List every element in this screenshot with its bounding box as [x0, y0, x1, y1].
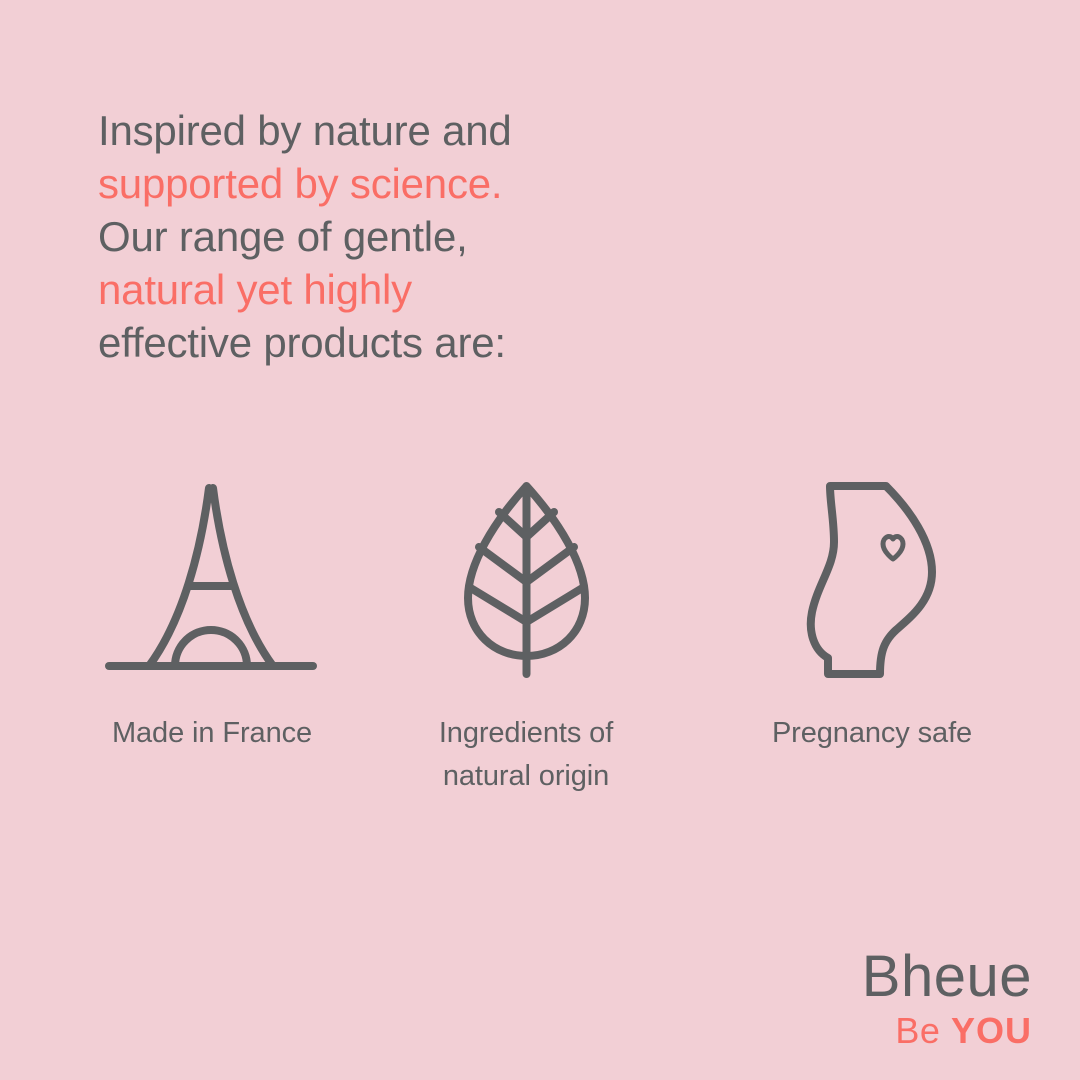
- headline-line-2: supported by science.: [98, 157, 738, 210]
- headline-line-1: Inspired by nature and: [98, 104, 738, 157]
- feature-label: Ingredients of natural origin: [439, 712, 613, 798]
- tagline-be: Be: [895, 1010, 940, 1051]
- eiffel-tower-icon: [105, 470, 320, 680]
- headline-line-3: Our range of gentle,: [98, 210, 738, 263]
- feature-list: Made in France: [60, 470, 1020, 798]
- pregnant-belly-icon: [800, 470, 945, 680]
- headline-line-4: natural yet highly: [98, 263, 738, 316]
- leaf-icon: [454, 470, 599, 680]
- brand-tagline: Be YOU: [862, 1010, 1032, 1052]
- brand-name: Bheue: [862, 946, 1032, 1008]
- feature-made-in-france: Made in France: [52, 470, 372, 755]
- tagline-you: YOU: [951, 1010, 1032, 1051]
- brand-logo: Bheue Be YOU: [862, 946, 1032, 1052]
- headline: Inspired by nature and supported by scie…: [98, 104, 738, 369]
- feature-pregnancy-safe: Pregnancy safe: [712, 470, 1032, 755]
- poster-canvas: Inspired by nature and supported by scie…: [0, 0, 1080, 1080]
- feature-label: Pregnancy safe: [772, 712, 972, 755]
- headline-line-5: effective products are:: [98, 316, 738, 369]
- feature-label: Made in France: [112, 712, 312, 755]
- feature-natural-origin: Ingredients of natural origin: [366, 470, 686, 798]
